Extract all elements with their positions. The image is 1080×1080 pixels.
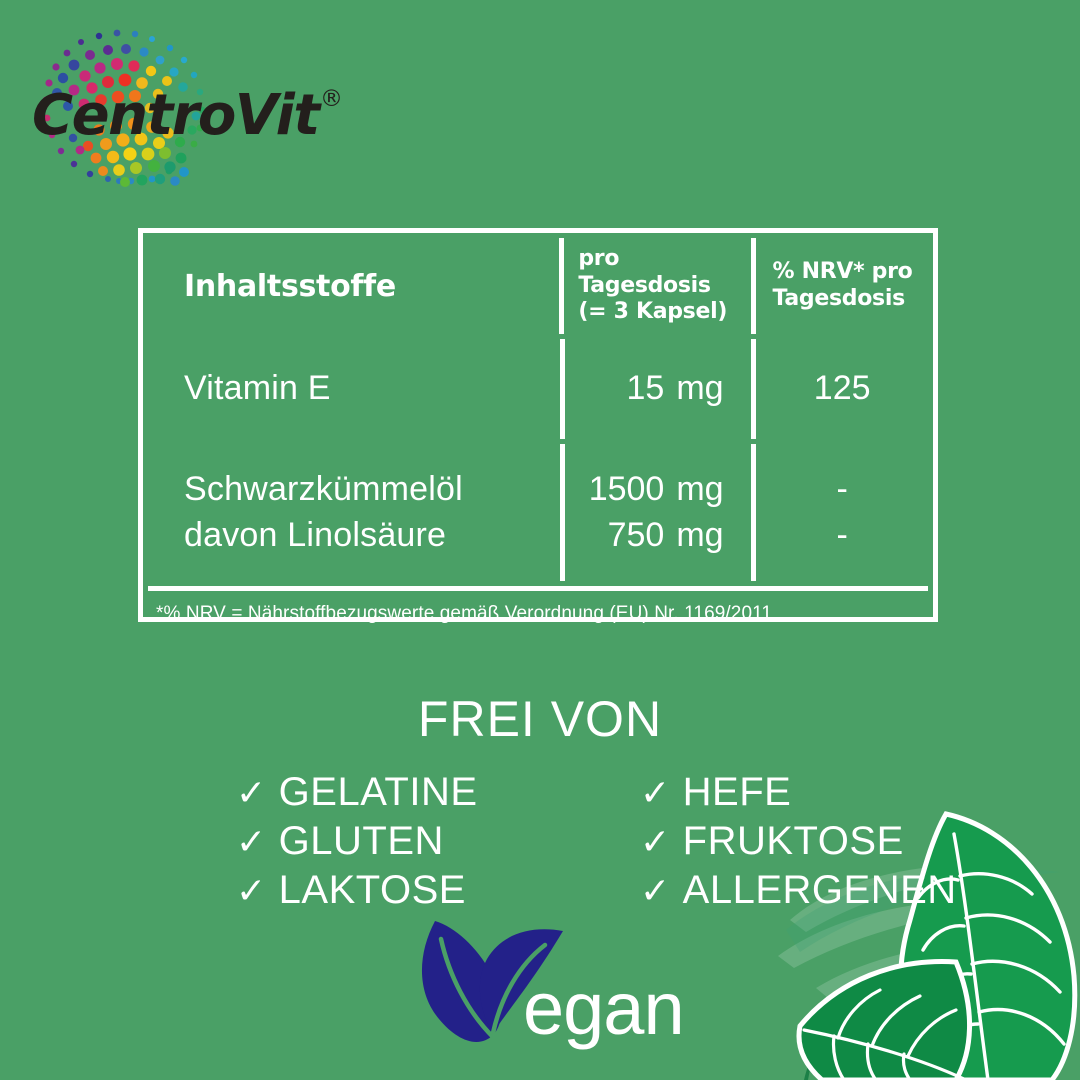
- header-per-daily-dose-line2: (= 3 Kapsel): [578, 299, 746, 326]
- check-icon: ✓: [640, 820, 671, 864]
- registered-trademark-icon: ®: [320, 88, 343, 111]
- row-nrv: - -: [751, 444, 928, 581]
- row-ingredient-name: Schwarzkümmelöl davon Linolsäure: [148, 444, 555, 581]
- header-nrv-line1: % NRV* pro: [772, 259, 928, 286]
- list-item: ✓ ALLERGENEN: [556, 866, 876, 915]
- list-item: ✓ GELATINE: [236, 768, 556, 817]
- check-icon: ✓: [236, 771, 267, 815]
- table-header-row: Inhaltsstoffe pro Tagesdosis (= 3 Kapsel…: [148, 238, 928, 334]
- check-icon: ✓: [236, 820, 267, 864]
- list-item-label: FRUKTOSE: [683, 817, 904, 866]
- ingredient-sublabel: davon Linolsäure: [184, 513, 555, 559]
- product-info-graphic: CentroVit ® Inhaltsstoffe pro Tagesdosis…: [0, 0, 1080, 1080]
- header-per-daily-dose-line1: pro Tagesdosis: [578, 246, 746, 300]
- row-nrv: 125: [751, 339, 928, 439]
- list-item: ✓ LAKTOSE: [236, 866, 556, 915]
- vegan-label: egan: [523, 972, 684, 1046]
- free-from-title: FREI VON: [0, 690, 1080, 748]
- header-ingredients: Inhaltsstoffe: [148, 238, 554, 334]
- table-footnote-row: *% NRV = Nährstoffbezugswerte gemäß Vero…: [148, 586, 928, 636]
- amount-unit: mg: [664, 366, 734, 412]
- amount-unit: mg: [664, 467, 734, 513]
- list-item-label: ALLERGENEN: [683, 866, 957, 915]
- nrv-footnote: *% NRV = Nährstoffbezugswerte gemäß Vero…: [148, 603, 772, 625]
- header-per-daily-dose: pro Tagesdosis (= 3 Kapsel): [559, 238, 746, 334]
- vegan-badge: egan: [405, 915, 675, 1050]
- header-nrv-line2: Tagesdosis: [772, 286, 928, 313]
- amount-value: 15: [627, 366, 665, 412]
- ingredient-label: Schwarzkümmelöl: [184, 467, 555, 513]
- check-icon: ✓: [640, 771, 671, 815]
- brand-logo: CentroVit ®: [24, 20, 344, 200]
- row-amount: 15 mg: [560, 339, 747, 439]
- ingredient-label: Vitamin E: [184, 366, 555, 412]
- nrv-value: -: [774, 467, 928, 513]
- nutrition-table: Inhaltsstoffe pro Tagesdosis (= 3 Kapsel…: [138, 228, 938, 622]
- amount-value: 1500: [589, 467, 665, 513]
- table-row: Vitamin E 15 mg 125: [148, 339, 928, 439]
- check-icon: ✓: [640, 869, 671, 913]
- free-from-list: ✓ GELATINE ✓ GLUTEN ✓ LAKTOSE ✓ HEFE ✓ F…: [236, 768, 876, 914]
- list-item: ✓ FRUKTOSE: [556, 817, 876, 866]
- check-icon: ✓: [236, 869, 267, 913]
- nrv-value: -: [774, 513, 928, 559]
- free-from-right-column: ✓ HEFE ✓ FRUKTOSE ✓ ALLERGENEN: [556, 768, 876, 914]
- table-row: Schwarzkümmelöl davon Linolsäure 1500 mg…: [148, 444, 928, 581]
- list-item-label: GLUTEN: [279, 817, 444, 866]
- list-item: ✓ GLUTEN: [236, 817, 556, 866]
- free-from-left-column: ✓ GELATINE ✓ GLUTEN ✓ LAKTOSE: [236, 768, 556, 914]
- row-amount: 1500 mg 750 mg: [560, 444, 747, 581]
- list-item-label: GELATINE: [279, 768, 478, 817]
- list-item-label: LAKTOSE: [279, 866, 466, 915]
- row-ingredient-name: Vitamin E: [148, 339, 555, 439]
- list-item: ✓ HEFE: [556, 768, 876, 817]
- amount-value: 750: [608, 513, 665, 559]
- list-item-label: HEFE: [683, 768, 792, 817]
- nrv-value: 125: [774, 366, 928, 412]
- header-nrv: % NRV* pro Tagesdosis: [751, 238, 928, 334]
- brand-wordmark: CentroVit: [32, 88, 319, 144]
- amount-unit: mg: [664, 513, 734, 559]
